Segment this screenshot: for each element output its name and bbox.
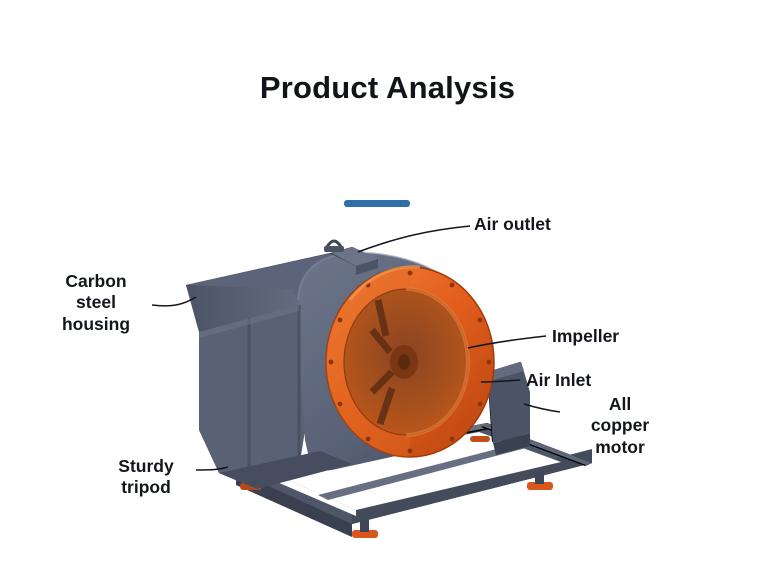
callout-label-sturdy-tripod: Sturdy tripod: [98, 456, 194, 499]
impeller-part: [326, 267, 494, 457]
leader-carbon-steel-housing: [152, 297, 196, 306]
lifting-hook: [324, 241, 344, 252]
diagram-canvas: Product Analysis: [0, 0, 775, 583]
callout-label-carbon-steel-housing: Carbon steel housing: [44, 271, 148, 335]
callout-label-all-copper-motor: All copper motor: [566, 394, 674, 458]
title-accent-bar: [344, 200, 410, 207]
callout-label-air-outlet: Air outlet: [474, 214, 551, 235]
callout-label-impeller: Impeller: [552, 326, 619, 347]
leader-air-outlet: [358, 226, 470, 252]
callout-label-air-inlet: Air Inlet: [526, 370, 591, 391]
foot-back: [470, 436, 490, 442]
air-inlet-part: [344, 289, 468, 435]
